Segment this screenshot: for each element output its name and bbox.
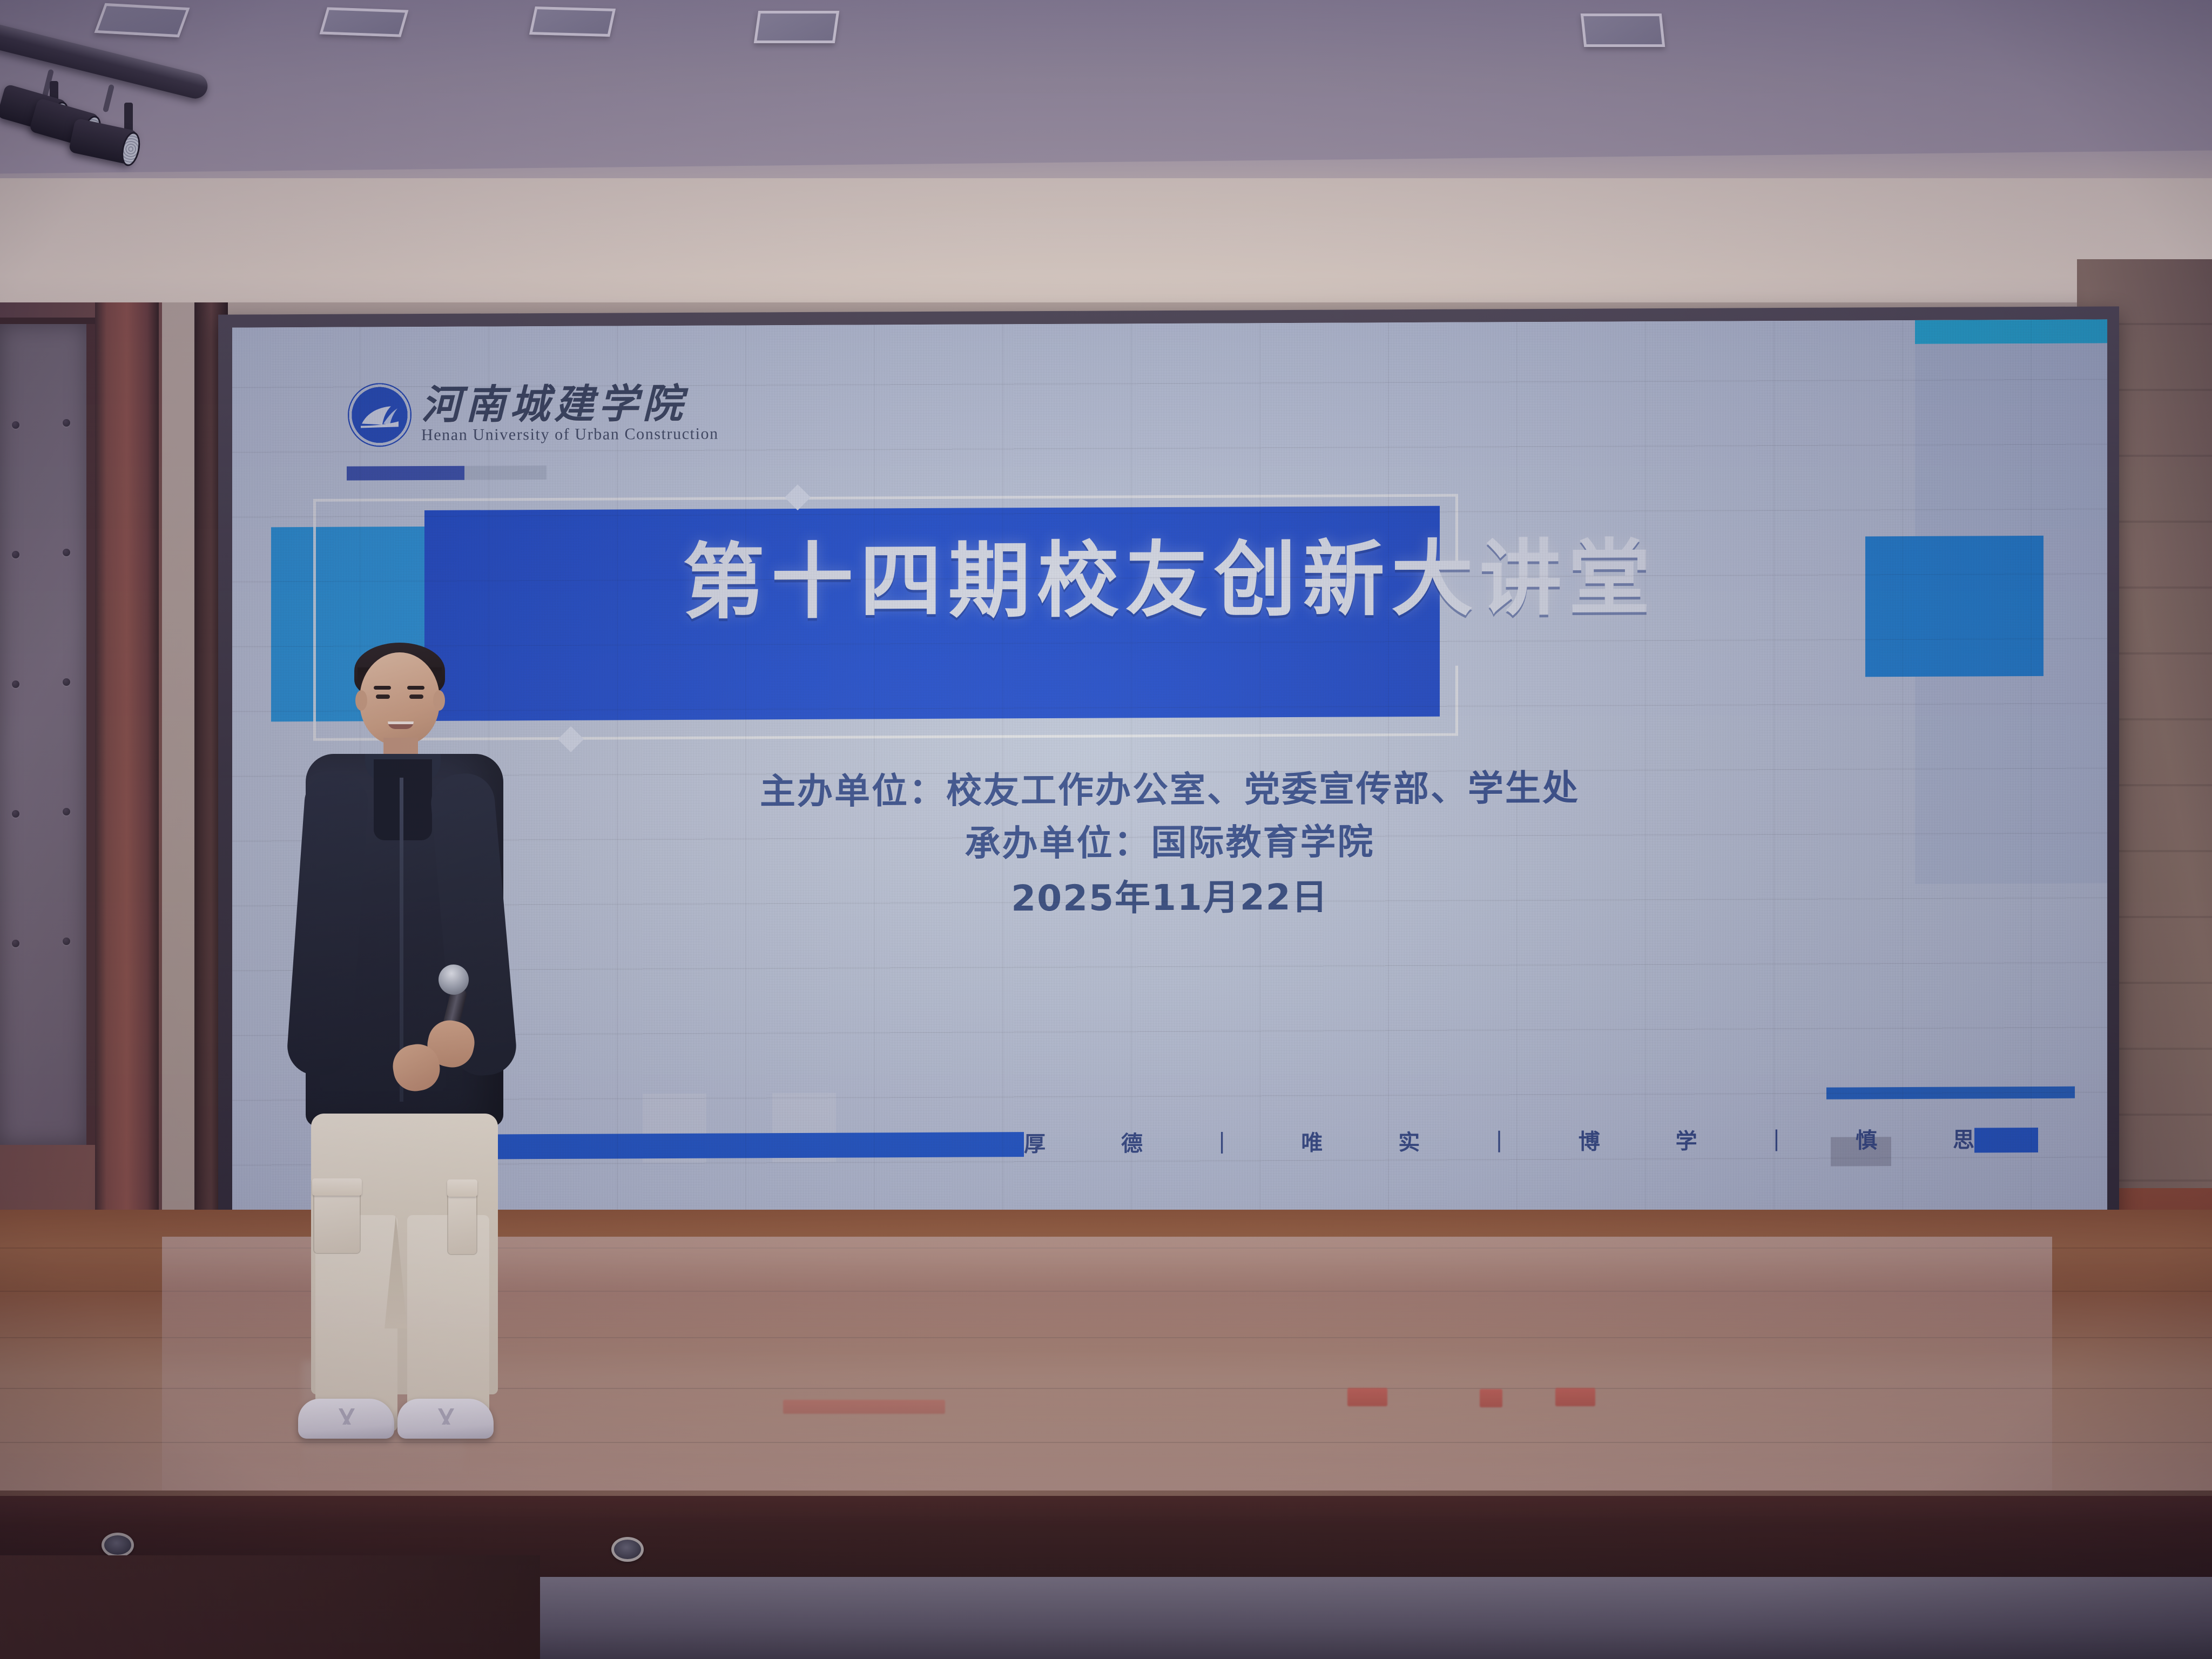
tufted-acoustic-panel [0, 324, 95, 1145]
stage-front-panel [0, 1555, 540, 1659]
presenter-shoe [397, 1399, 494, 1439]
motto-char: 博 [1579, 1124, 1600, 1156]
cargo-pocket-flap [447, 1179, 477, 1197]
motto-char: 厚 [1024, 1127, 1046, 1158]
university-logo: 河南城建学院 Henan University of Urban Constru… [348, 382, 719, 447]
university-name-cn: 河南城建学院 [421, 384, 719, 425]
motto-separator: | [1773, 1127, 1780, 1151]
presenter [292, 643, 518, 1447]
floor-reflection-mark [1480, 1389, 1502, 1407]
university-motto: 厚 德 | 唯 实 | 博 学 | 慎 思 [1024, 1122, 1974, 1158]
presenter-mouth [388, 721, 414, 729]
motto-separator: | [1218, 1129, 1225, 1154]
presenter-ear [355, 690, 367, 711]
floor-outlet [611, 1537, 644, 1562]
floor-outlet [102, 1533, 134, 1557]
presenter-head [360, 652, 440, 745]
bottom-blue-strip-right [1974, 1128, 2038, 1153]
right-blue-bar [1826, 1087, 2075, 1100]
presenter-ear [433, 690, 445, 711]
motto-char: 思 [1953, 1122, 1974, 1154]
motto-char: 慎 [1856, 1123, 1877, 1154]
logo-underline-rule [347, 466, 547, 481]
motto-char: 实 [1398, 1125, 1420, 1156]
diamond-marker-icon [558, 726, 584, 752]
motto-separator: | [1495, 1128, 1502, 1152]
recessed-ceiling-vent [95, 3, 190, 37]
recessed-ceiling-vent [529, 6, 616, 37]
slide-title: 第十四期校友创新大讲堂 [232, 535, 2107, 625]
diamond-marker-icon [785, 484, 811, 510]
recessed-ceiling-vent [754, 11, 839, 43]
presenter-shoe [298, 1399, 394, 1439]
cargo-pocket [448, 1189, 476, 1254]
university-crest-icon [348, 383, 412, 447]
presenter-eye [376, 694, 390, 699]
motto-char: 德 [1121, 1126, 1143, 1157]
cyan-accent-tab [1915, 319, 2107, 344]
presenter-eyebrow [374, 686, 391, 690]
floor-reflection-mark [1347, 1388, 1387, 1406]
stage-edge-highlight [0, 1491, 2212, 1496]
recessed-ceiling-vent [320, 7, 409, 37]
cargo-pocket-flap [312, 1178, 362, 1196]
floor-reflection-mark [783, 1400, 945, 1414]
motto-char: 学 [1676, 1124, 1697, 1155]
presenter-eyebrow [407, 686, 424, 690]
lecture-hall-scene: 河南城建学院 Henan University of Urban Constru… [0, 0, 2212, 1659]
floor-reflection-mark [1555, 1388, 1595, 1406]
presenter-eye [409, 694, 423, 699]
recessed-ceiling-vent [1581, 14, 1665, 47]
motto-char: 唯 [1301, 1125, 1323, 1157]
university-name-en: Henan University of Urban Construction [421, 425, 719, 444]
cargo-pocket [314, 1188, 360, 1253]
